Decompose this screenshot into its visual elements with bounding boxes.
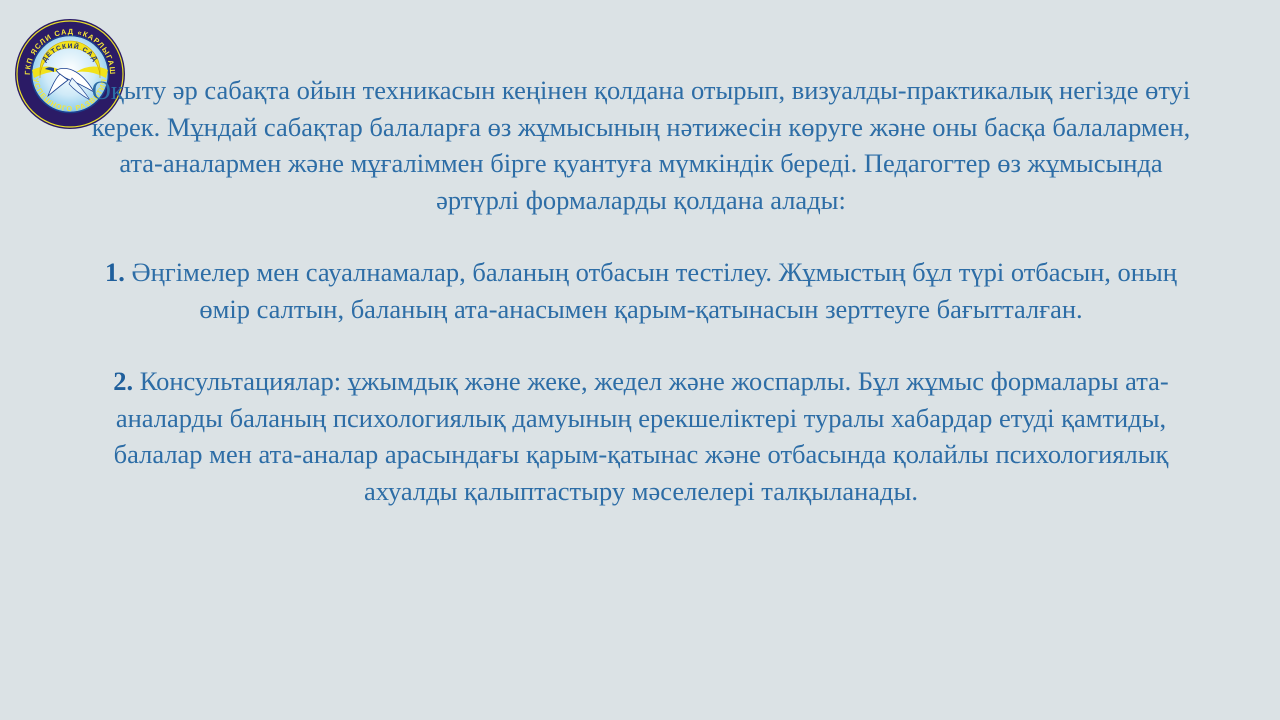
list-marker-1: 1.	[105, 257, 125, 287]
paragraph-item-1-text: Әңгімелер мен сауалнамалар, баланың отба…	[125, 257, 1177, 324]
paragraph-intro: Оқыту әр сабақта ойын техникасын кеңінен…	[86, 72, 1196, 218]
paragraph-intro-text: Оқыту әр сабақта ойын техникасын кеңінен…	[92, 75, 1191, 215]
paragraph-item-2-text: Консультациялар: ұжымдық және жеке, жеде…	[114, 366, 1169, 506]
slide-body: Оқыту әр сабақта ойын техникасын кеңінен…	[86, 72, 1196, 509]
paragraph-item-2: 2. Консультациялар: ұжымдық және жеке, ж…	[86, 363, 1196, 509]
paragraph-item-1: 1. Әңгімелер мен сауалнамалар, баланың о…	[86, 254, 1196, 327]
presentation-slide: КГКП ЯСЛИ САД «КАРЛЫГАШ» УСПЕШНОГО РАЗВИ…	[0, 0, 1280, 720]
list-marker-2: 2.	[113, 366, 133, 396]
